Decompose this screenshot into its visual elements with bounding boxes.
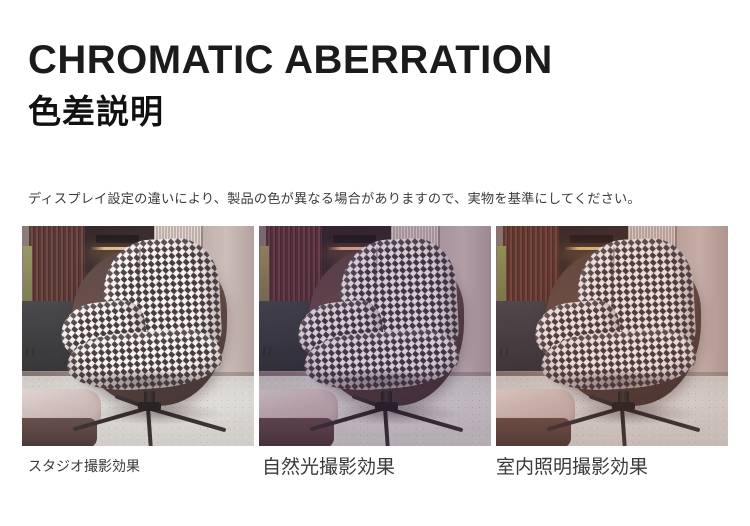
photo-indoor-lighting[interactable] [496, 226, 728, 446]
swivel-hub [138, 402, 161, 411]
sideboard-leg [263, 347, 266, 357]
photo-natural-light[interactable] [259, 226, 491, 446]
lounge-chair [535, 239, 711, 428]
backrest-seam [137, 247, 141, 308]
sideboard-leg [500, 347, 503, 357]
wall-art [23, 246, 32, 303]
sideboard-leg [505, 347, 508, 357]
lounge-chair [298, 239, 474, 428]
backrest-seam [611, 247, 615, 308]
header: CHROMATIC ABERRATION 色差説明 [28, 38, 722, 132]
swivel-hub [375, 402, 398, 411]
chair-scene [496, 226, 728, 446]
sideboard-leg [268, 347, 271, 357]
sideboard-leg [26, 347, 29, 357]
caption-natural-light: 自然光撮影効果 [262, 452, 395, 479]
caption-indoor-lighting: 室内照明撮影効果 [496, 452, 648, 479]
photo-studio[interactable] [22, 226, 254, 446]
page-title-japanese: 色差説明 [28, 92, 722, 132]
backrest-seam [374, 247, 378, 308]
disclaimer-text: ディスプレイ設定の違いにより、製品の色が異なる場合がありますので、実物を基準にし… [28, 191, 728, 209]
wall-art [497, 246, 506, 303]
sideboard-leg [31, 347, 34, 357]
color-disclaimer-page: CHROMATIC ABERRATION 色差説明 ディスプレイ設定の違いにより… [0, 0, 750, 526]
page-title-english: CHROMATIC ABERRATION [28, 38, 722, 82]
wall-art [260, 246, 269, 303]
photo-gallery [22, 226, 728, 446]
caption-studio: スタジオ撮影効果 [28, 456, 140, 476]
chair-scene [22, 226, 254, 446]
photo-captions: スタジオ撮影効果 自然光撮影効果 室内照明撮影効果 [0, 452, 750, 492]
lounge-chair [61, 239, 237, 428]
chair-scene [259, 226, 491, 446]
swivel-hub [612, 402, 635, 411]
